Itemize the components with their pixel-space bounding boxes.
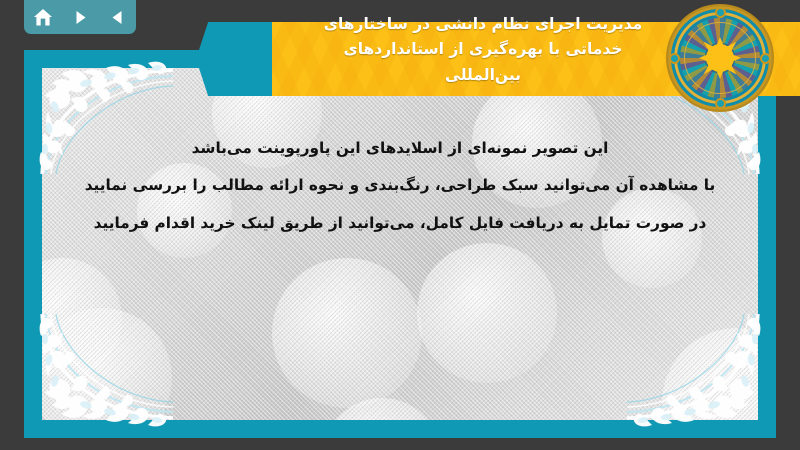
slide-crosshatch-texture (42, 68, 758, 420)
bokeh-circle (417, 243, 557, 383)
persian-medallion-ornament-icon (668, 6, 772, 110)
home-icon (33, 8, 53, 27)
medallion-boss-right (760, 53, 771, 64)
slide-canvas (24, 50, 776, 438)
bokeh-circle (42, 258, 122, 378)
title-banner-arrow-tab (196, 22, 272, 96)
medallion-boss-bottom (715, 98, 726, 109)
bokeh-circle (137, 163, 232, 258)
previous-slide-button[interactable] (103, 4, 131, 30)
bokeh-circle (42, 308, 172, 420)
medallion-boss-left (669, 53, 680, 64)
medallion-boss-top (715, 7, 726, 18)
bokeh-circle (272, 258, 422, 408)
bokeh-circle (472, 78, 602, 208)
next-slide-button[interactable] (66, 4, 94, 30)
bokeh-circle (602, 188, 702, 288)
triangle-left-icon (109, 9, 126, 26)
bokeh-circle (662, 328, 758, 420)
slide-navigation-bar (24, 0, 136, 34)
bokeh-circle (322, 398, 442, 420)
home-button[interactable] (29, 4, 57, 30)
medallion-eight-point-star (699, 37, 741, 79)
slide-content-area (42, 68, 758, 420)
triangle-right-icon (72, 9, 89, 26)
